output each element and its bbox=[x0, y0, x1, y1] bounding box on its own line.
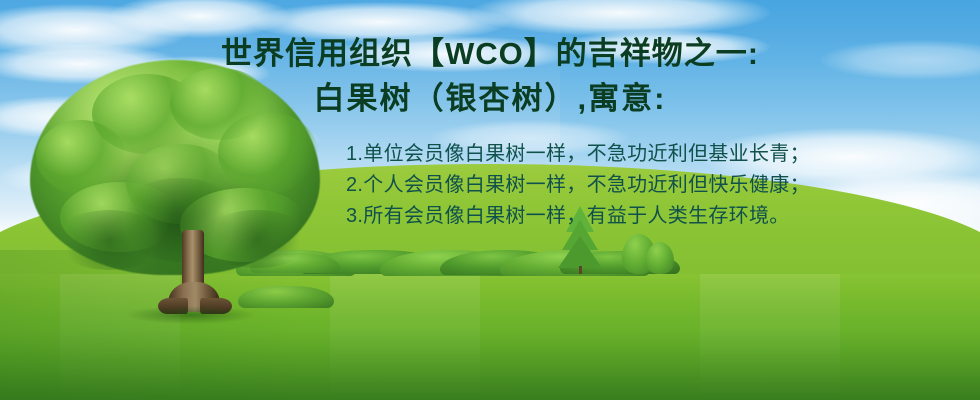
banner-title: 世界信用组织【WCO】的吉祥物之一: 白果树（银杏树）,寓意: bbox=[0, 31, 980, 121]
round-tree bbox=[646, 242, 674, 274]
body-line-2: 2.个人会员像白果树一样，不急功近利但快乐健康； bbox=[346, 170, 906, 201]
grass-shadow-bottom bbox=[0, 330, 980, 400]
wco-mascot-banner: 世界信用组织【WCO】的吉祥物之一: 白果树（银杏树）,寓意: 1.单位会员像白… bbox=[0, 0, 980, 400]
conifer-tier-icon bbox=[558, 236, 602, 268]
underbrush-bush bbox=[238, 286, 334, 308]
leaf-shadow bbox=[202, 210, 312, 268]
tree-ground-shadow bbox=[126, 306, 256, 324]
title-line-1: 世界信用组织【WCO】的吉祥物之一: bbox=[0, 31, 980, 76]
conifer-trunk bbox=[579, 266, 582, 274]
banner-body: 1.单位会员像白果树一样，不急功近利但基业长青； 2.个人会员像白果树一样，不急… bbox=[346, 139, 906, 232]
body-line-1: 1.单位会员像白果树一样，不急功近利但基业长青； bbox=[346, 139, 906, 170]
body-line-3: 3.所有会员像白果树一样，有益于人类生存环境。 bbox=[346, 201, 906, 232]
leaf-shadow bbox=[54, 210, 164, 270]
title-line-2: 白果树（银杏树）,寓意: bbox=[0, 76, 980, 121]
